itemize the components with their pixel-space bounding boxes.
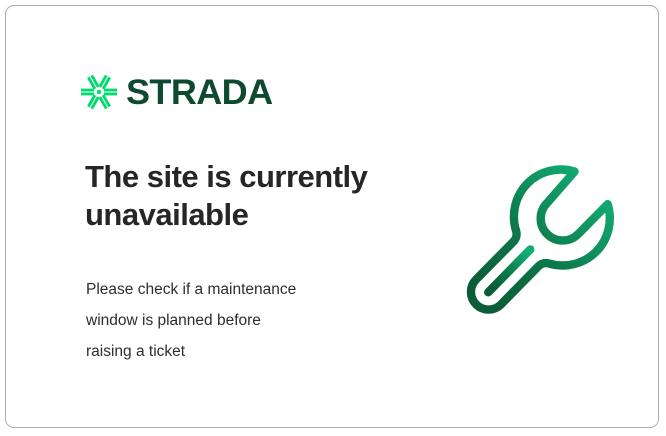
brand-wordmark: STRADA [126,75,273,110]
description-line: window is planned before [86,305,396,336]
error-page: STRADA The site is currently unavailable… [0,0,666,436]
description-line: raising a ticket [86,336,396,367]
strada-asterisk-icon [81,74,117,110]
wrench-icon [454,152,624,322]
description-line: Please check if a maintenance [86,274,396,305]
page-description: Please check if a maintenance window is … [86,274,396,367]
status-card: STRADA The site is currently unavailable… [5,5,659,428]
brand-logo: STRADA [81,74,268,110]
page-title: The site is currently unavailable [85,158,425,235]
